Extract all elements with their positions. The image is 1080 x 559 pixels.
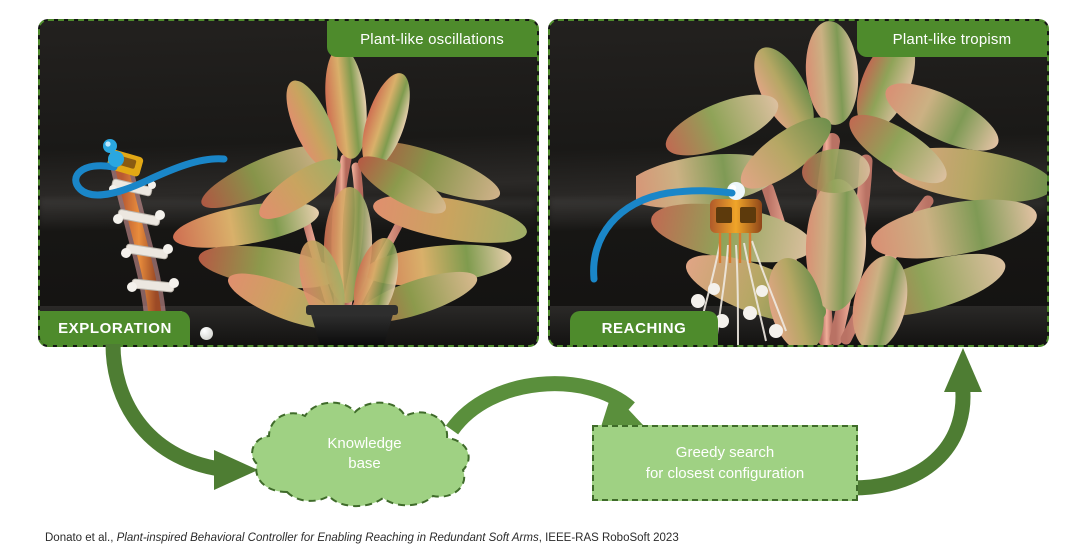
knowledge-base-label: Knowledge base: [243, 396, 486, 512]
badge-exploration: EXPLORATION: [40, 311, 190, 345]
ribbon-plant-like-oscillations: Plant-like oscillations: [327, 21, 537, 57]
arrow-greedy-to-reaching: [852, 348, 982, 488]
photo-exploration: [40, 21, 537, 345]
greedy-line-2: for closest configuration: [646, 463, 804, 484]
figure-stage: Plant-like oscillations EXPLORATION: [0, 0, 1080, 559]
calibration-ball: [200, 327, 213, 340]
caption-venue: , IEEE-RAS RoboSoft 2023: [539, 532, 679, 544]
panel-exploration[interactable]: Plant-like oscillations EXPLORATION: [38, 19, 539, 347]
knowledge-base-cloud[interactable]: Knowledge base: [243, 396, 486, 512]
photo-reaching: [550, 21, 1047, 345]
cloud-line-2: base: [348, 454, 381, 474]
greedy-search-box[interactable]: Greedy search for closest configuration: [592, 425, 858, 501]
badge-reaching: REACHING: [570, 311, 718, 345]
panel-reaching[interactable]: Plant-like tropism REACHING: [548, 19, 1049, 347]
caption-author: Donato et al.,: [45, 532, 113, 544]
greedy-line-1: Greedy search: [676, 442, 774, 463]
ribbon-plant-like-tropism: Plant-like tropism: [857, 21, 1047, 57]
figure-caption: Donato et al., Plant-inspired Behavioral…: [45, 532, 679, 544]
caption-title: Plant-inspired Behavioral Controller for…: [117, 532, 539, 544]
cloud-line-1: Knowledge: [327, 434, 401, 454]
arrow-exploration-to-knowledge: [113, 344, 258, 490]
